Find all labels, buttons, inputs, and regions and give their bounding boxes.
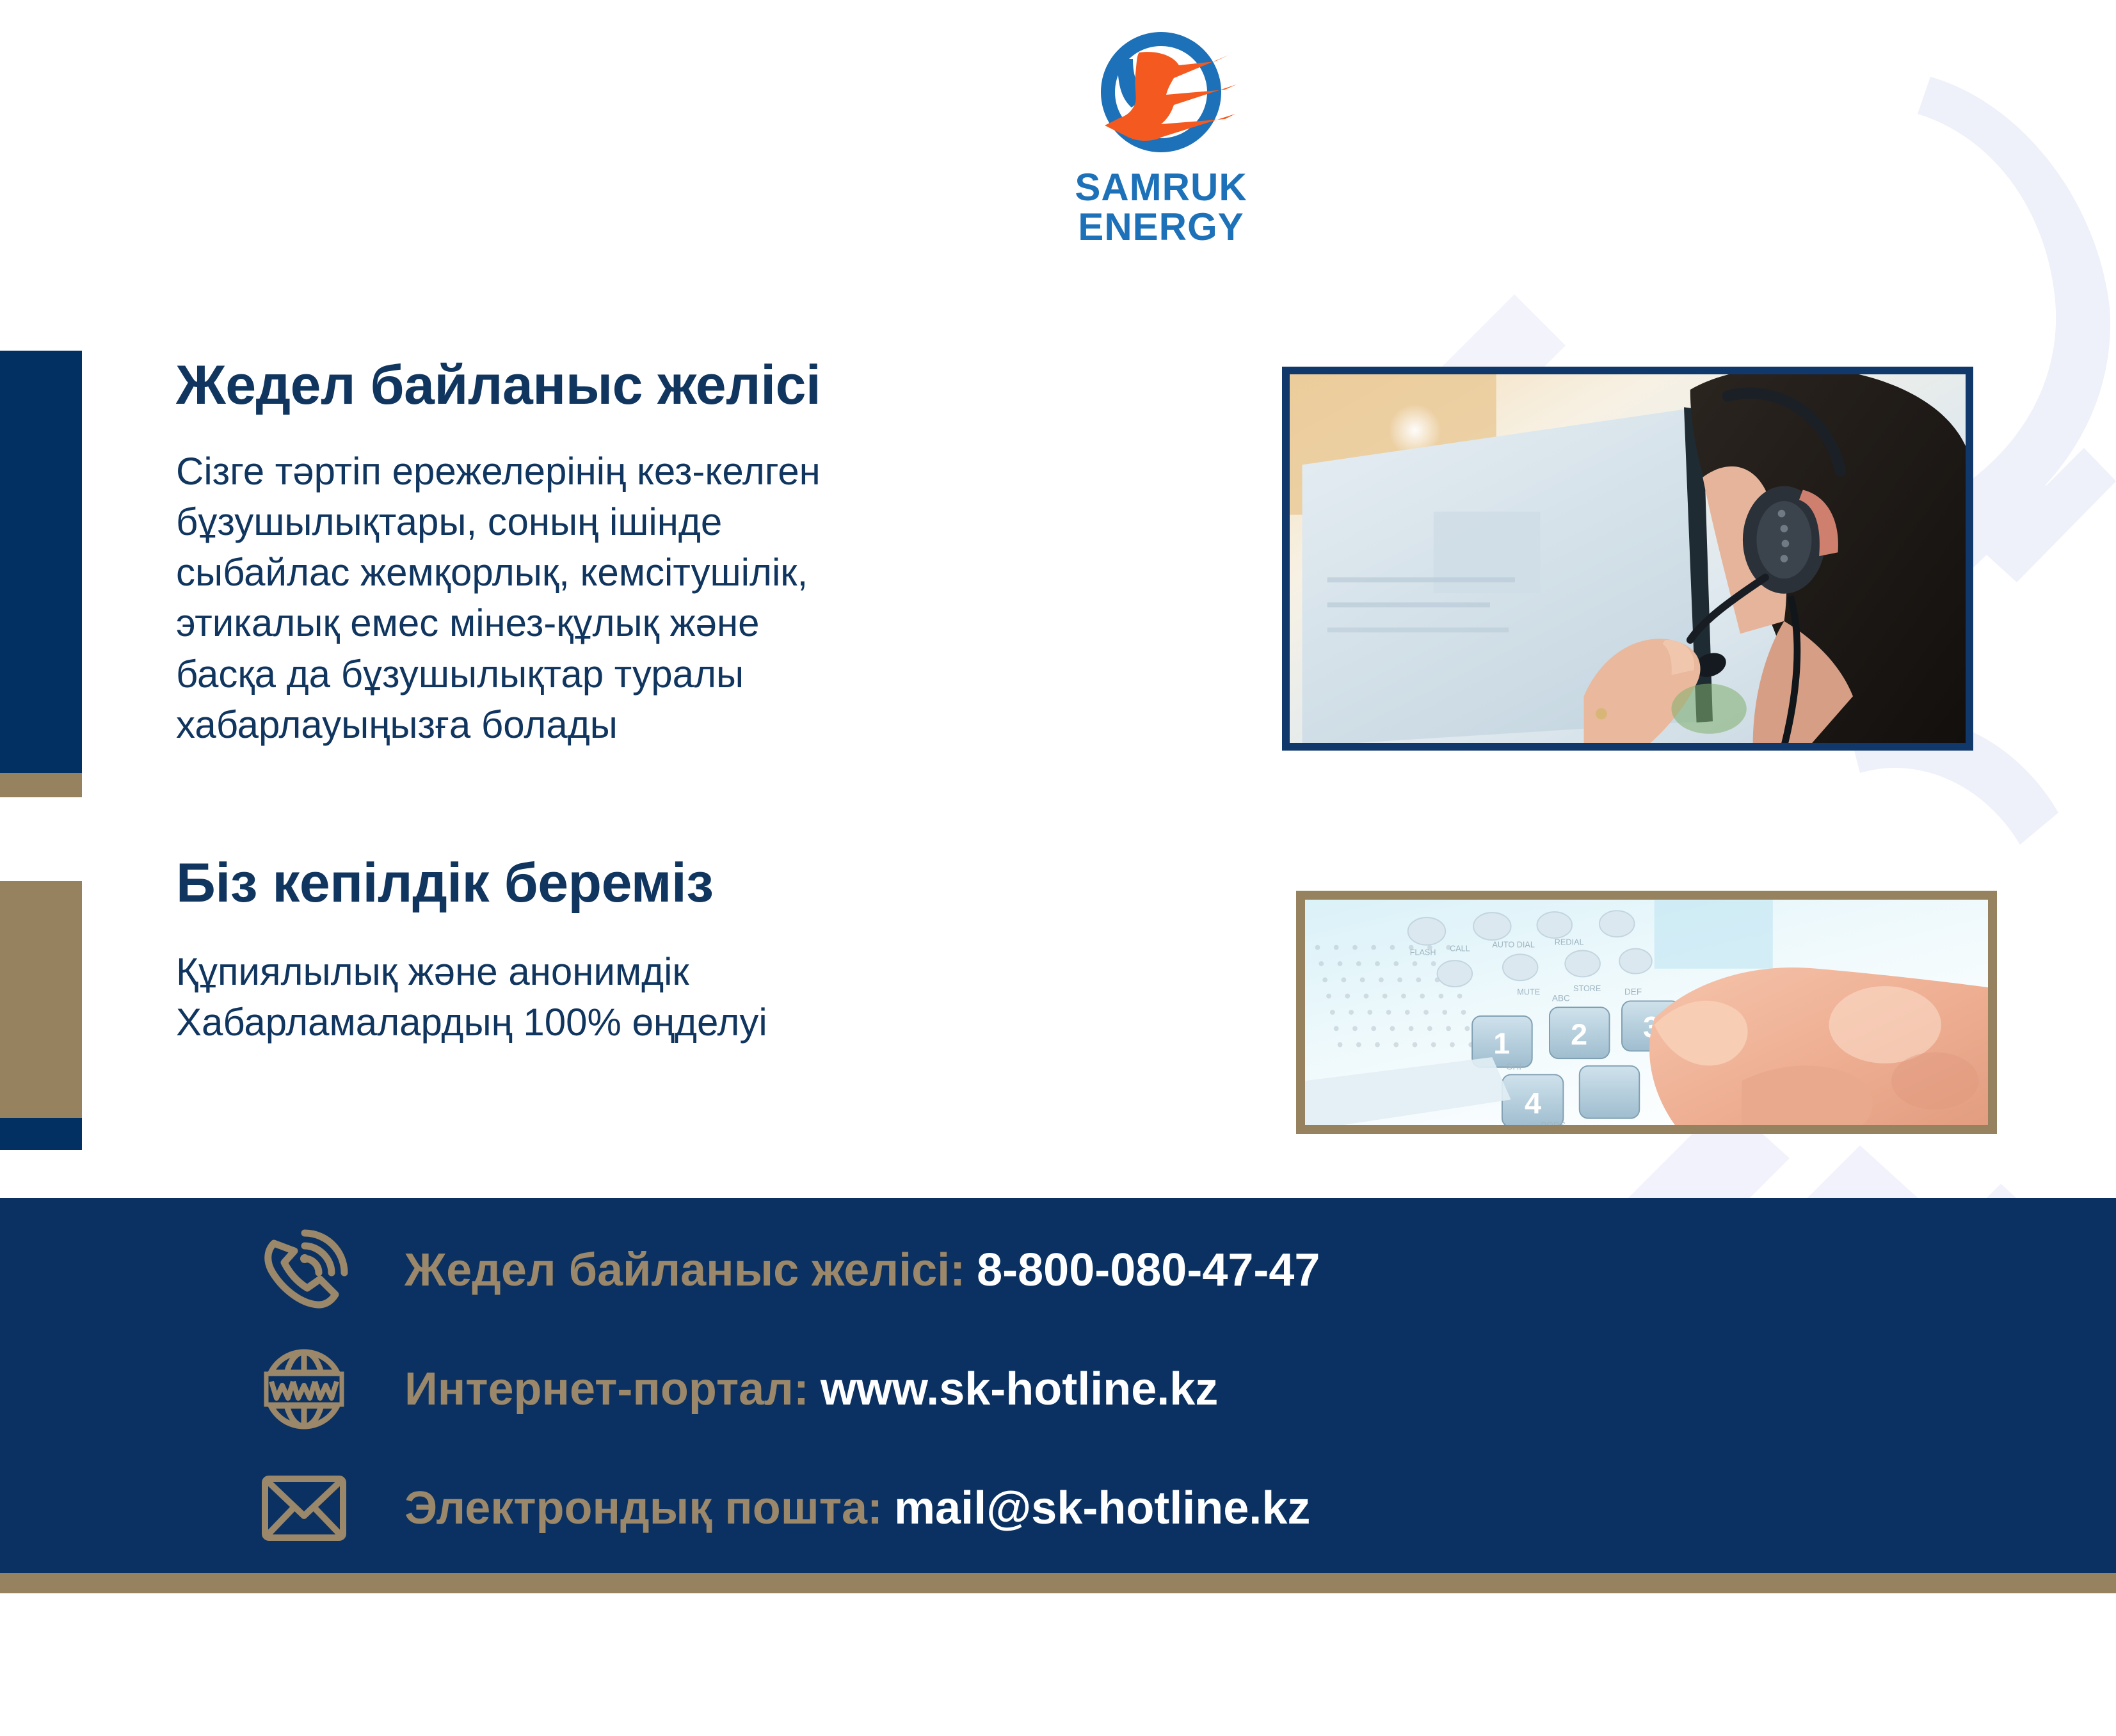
contact-website-value[interactable]: www.sk-hotline.kz (821, 1364, 1218, 1415)
svg-text:CALL: CALL (1450, 944, 1470, 953)
svg-text:REDIAL: REDIAL (1555, 938, 1584, 947)
svg-text:FLASH: FLASH (1410, 948, 1436, 957)
brand-logo: SAMRUK ENERGY (1027, 23, 1295, 248)
footer-bottom-strip (0, 1573, 2116, 1593)
svg-text:STORE: STORE (1573, 984, 1601, 993)
svg-text:AUTO DIAL: AUTO DIAL (1492, 941, 1535, 950)
contact-phone-value[interactable]: 8-800-080-47-47 (977, 1245, 1320, 1296)
contact-row-phone[interactable]: Жедел байланыс желісі:8-800-080-47-47 (256, 1211, 1320, 1330)
svg-text:MUTE: MUTE (1517, 988, 1540, 997)
phone-ringing-icon (256, 1225, 365, 1315)
contact-row-website[interactable]: Интернет-портал:www.sk-hotline.kz (256, 1330, 1320, 1449)
paragraph-line: басқа да бұзушылықтар туралы (176, 649, 1085, 699)
paragraph-line: Хабарламалардың 100% өңделуі (176, 997, 1085, 1047)
svg-text:GHI: GHI (1506, 1062, 1521, 1072)
svg-text:ABC: ABC (1552, 993, 1570, 1003)
svg-text:2: 2 (1571, 1018, 1587, 1051)
contact-phone-label: Жедел байланыс желісі: (405, 1245, 965, 1296)
contact-email-value[interactable]: mail@sk-hotline.kz (894, 1483, 1310, 1534)
envelope-icon (256, 1463, 365, 1553)
paragraph-line: Құпиялылық және анонимдік (176, 946, 1085, 997)
svg-text:DEF: DEF (1624, 987, 1642, 997)
samruk-bird-circle-logo (1078, 23, 1244, 164)
contact-phone-text: Жедел байланыс желісі:8-800-080-47-47 (405, 1247, 1320, 1293)
content-text-column: Жедел байланыс желісі Сізге тәртіп ереже… (176, 356, 1085, 1047)
paragraph-line: этикалық емес мінез-құлық және (176, 598, 1085, 648)
left-accent-bar-navy (0, 351, 82, 773)
section-2-paragraph: Құпиялылық және анонимдік Хабарламаларды… (176, 946, 1085, 1047)
left-accent-bar-tan-footer (0, 1118, 82, 1150)
contact-row-email[interactable]: Электрондық пошта:mail@sk-hotline.kz (256, 1449, 1320, 1568)
section-1-heading: Жедел байланыс желісі (176, 356, 1085, 415)
svg-text:4: 4 (1525, 1087, 1541, 1120)
logo-text-line1: SAMRUK (1027, 168, 1295, 207)
contact-email-label: Электрондық пошта: (405, 1483, 883, 1534)
paragraph-line: Сізге тәртіп ережелерінің кез-келген (176, 446, 1085, 497)
contact-website-label: Интернет-портал: (405, 1364, 809, 1415)
section-2-heading: Біз кепілдік береміз (176, 854, 1085, 913)
call-center-operator-photo (1282, 367, 1973, 751)
contact-website-text: Интернет-портал:www.sk-hotline.kz (405, 1366, 1218, 1412)
globe-www-icon (256, 1344, 365, 1434)
svg-text:PQRS: PQRS (1541, 1120, 1566, 1125)
svg-text:1: 1 (1493, 1026, 1510, 1060)
paragraph-line: хабарлауыңызға болады (176, 699, 1085, 750)
section-1-paragraph: Сізге тәртіп ережелерінің кез-келген бұз… (176, 446, 1085, 750)
left-accent-bar-tan (0, 881, 82, 1118)
paragraph-line: бұзушылықтары, соның ішінде (176, 497, 1085, 547)
telephone-keypad-photo: FLASH CALL AUTO DIAL REDIAL MUTE STORE (1296, 891, 1997, 1134)
logo-text-line2: ENERGY (1027, 207, 1295, 247)
left-accent-bar-navy-footer (0, 773, 82, 797)
paragraph-line: сыбайлас жемқорлық, кемсітушілік, (176, 547, 1085, 598)
poster-canvas: SAMRUK ENERGY Жедел байланыс желісі Сізг… (0, 0, 2116, 1736)
contact-email-text: Электрондық пошта:mail@sk-hotline.kz (405, 1485, 1310, 1531)
contact-list: Жедел байланыс желісі:8-800-080-47-47 (256, 1211, 1320, 1568)
